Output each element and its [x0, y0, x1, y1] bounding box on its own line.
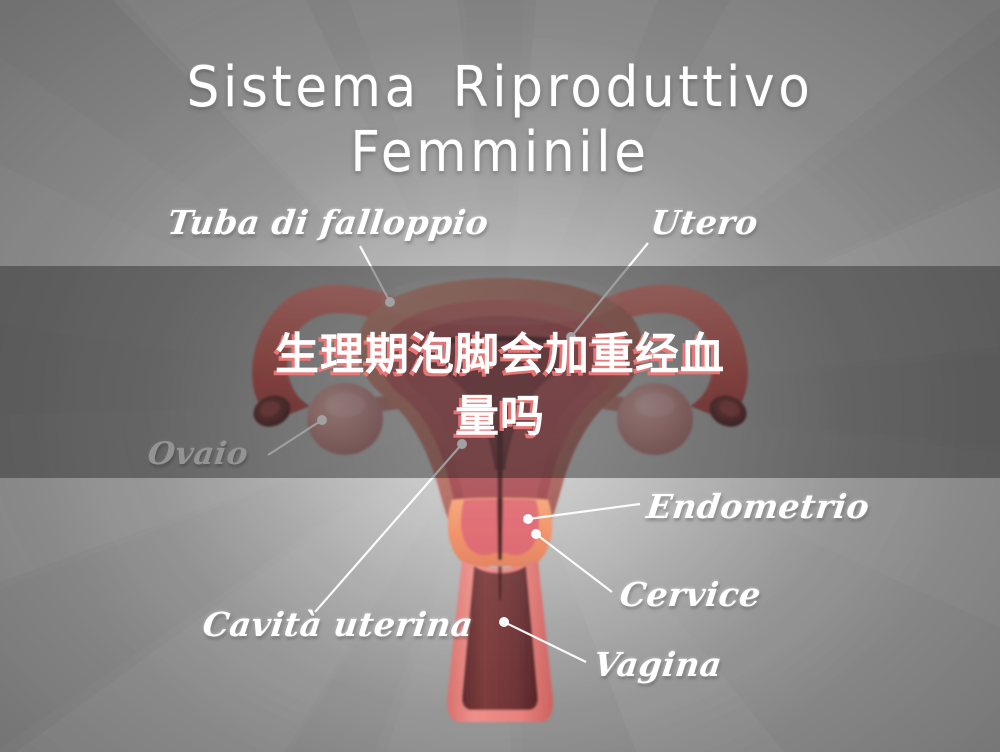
diagram-screenshot: Sistema Riproduttivo Femminile Tuba di f…	[0, 0, 1000, 752]
caption-overlay-band	[0, 266, 1000, 478]
